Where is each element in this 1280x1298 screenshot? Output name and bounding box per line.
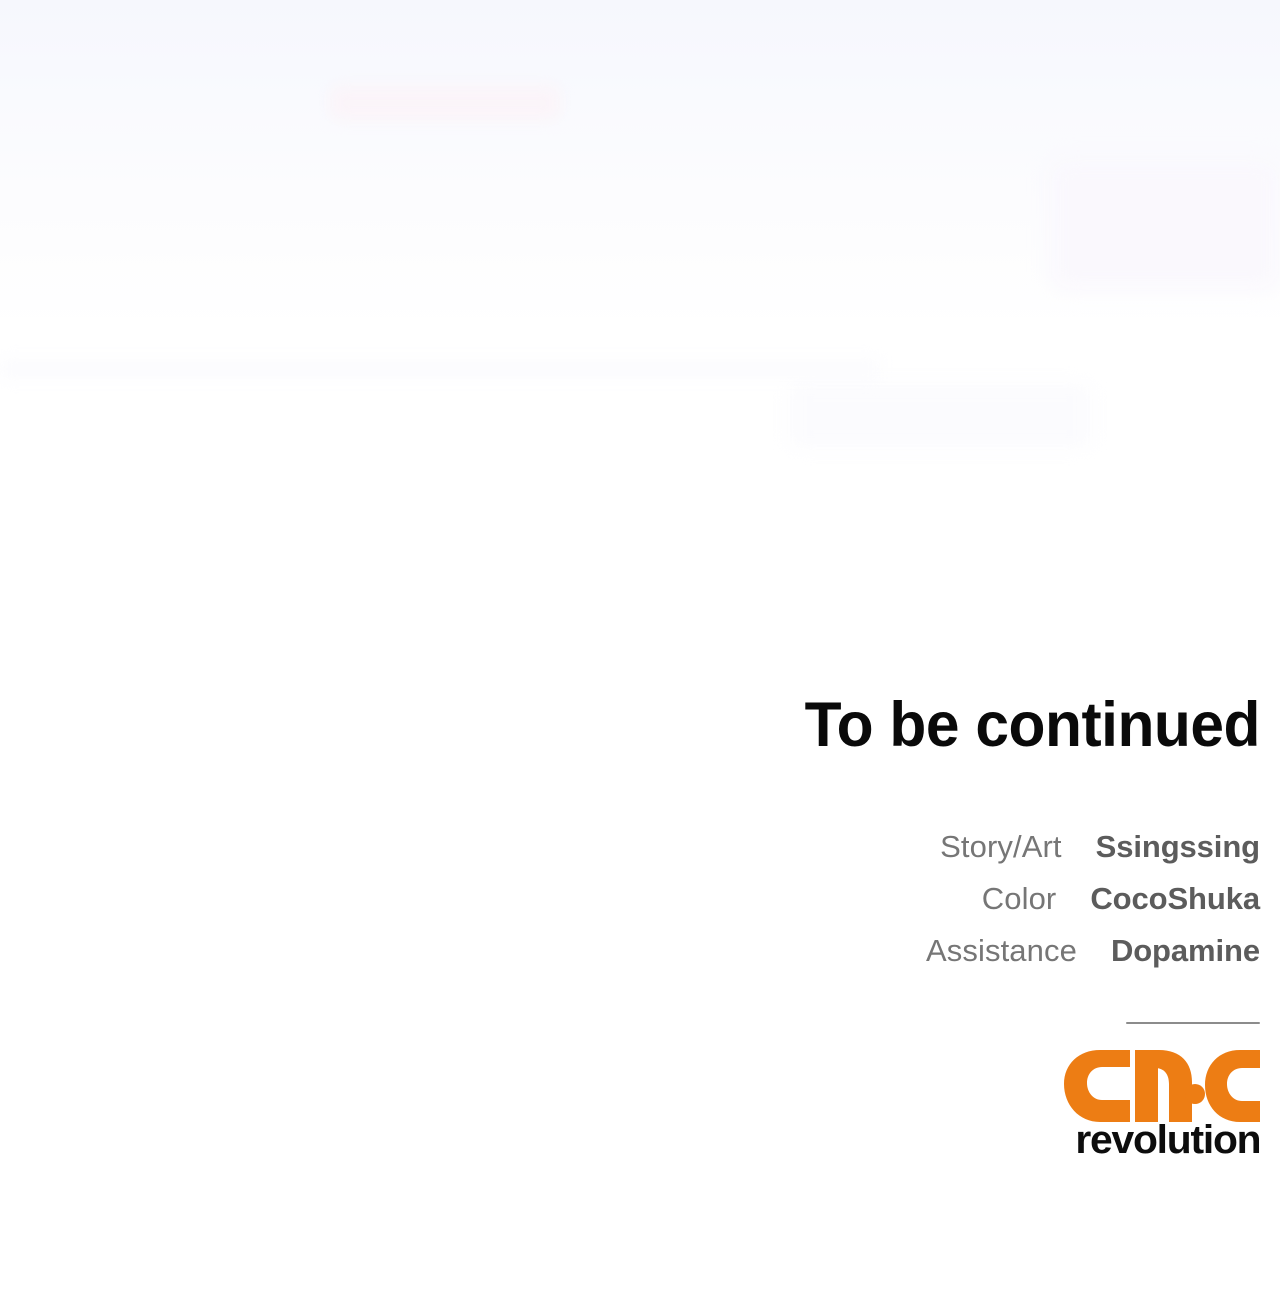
credit-row: Color CocoShuka	[982, 880, 1260, 918]
credits-list: Story/Art Ssingssing Color CocoShuka Ass…	[660, 828, 1260, 970]
background-ghost-blob	[1050, 160, 1280, 290]
background-ghost-blob	[790, 385, 1090, 447]
end-card: To be continued Story/Art Ssingssing Col…	[660, 690, 1260, 1161]
credit-label-color: Color	[982, 880, 1057, 918]
credit-row: Story/Art Ssingssing	[940, 828, 1260, 866]
credit-label-assistance: Assistance	[926, 932, 1077, 970]
credit-value-assistance: Dopamine	[1111, 932, 1260, 970]
background-ghost-blob	[0, 360, 880, 378]
background-ghost-blob	[330, 86, 560, 120]
to-be-continued-heading: To be continued	[684, 690, 1260, 760]
logo-wordmark: revolution	[1075, 1119, 1260, 1161]
credit-value-color: CocoShuka	[1090, 880, 1260, 918]
horizontal-divider	[1126, 1022, 1260, 1024]
comic-end-page: To be continued Story/Art Ssingssing Col…	[0, 0, 1280, 1298]
credit-row: Assistance Dopamine	[926, 932, 1260, 970]
divider-wrapper	[660, 1022, 1260, 1024]
credit-label-story-art: Story/Art	[940, 828, 1061, 866]
background-ghost-wash	[0, 0, 1280, 330]
credit-value-story-art: Ssingssing	[1096, 828, 1260, 866]
cnc-logo-icon	[1064, 1050, 1260, 1122]
cnc-revolution-logo: revolution	[660, 1050, 1260, 1161]
